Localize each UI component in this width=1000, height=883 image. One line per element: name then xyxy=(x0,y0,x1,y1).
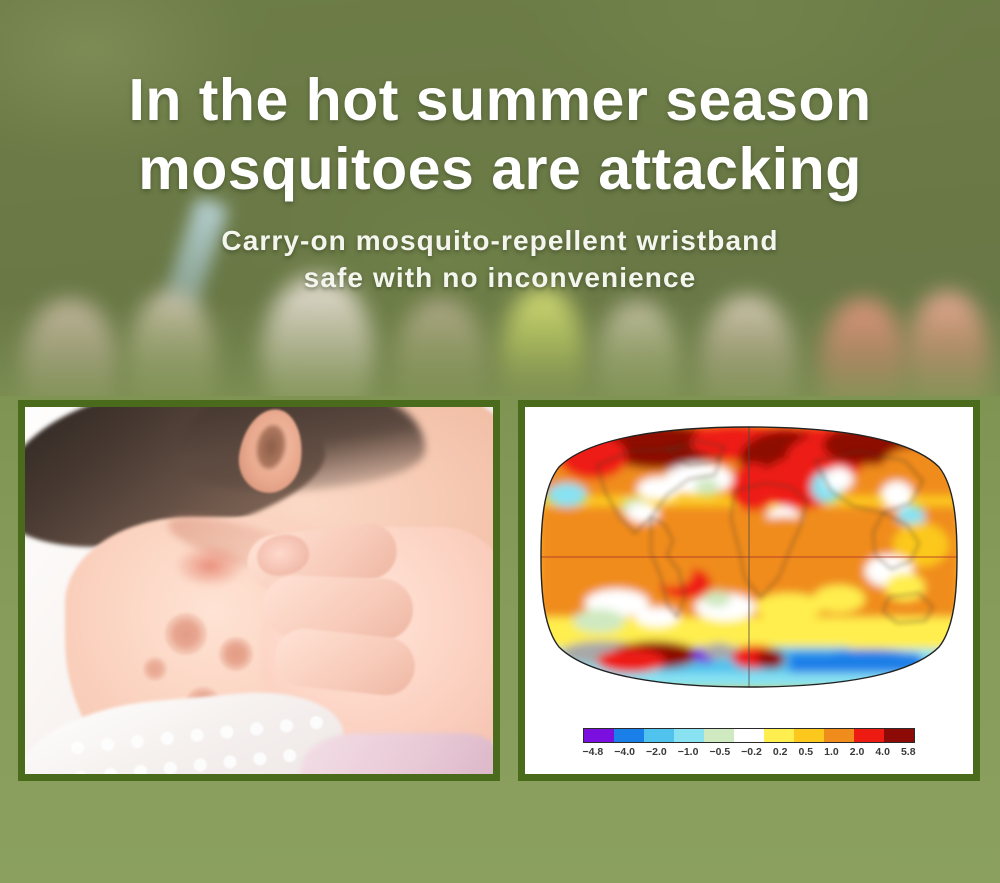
colorbar-tick-11: 5.8 xyxy=(895,746,921,758)
colorbar-tick-1: −4.0 xyxy=(609,746,641,758)
colorbar-tick-0: −4.8 xyxy=(577,746,609,758)
colorbar-bin-6 xyxy=(764,729,794,742)
page-title: In the hot summer season mosquitoes are … xyxy=(0,66,1000,204)
mosquito-bite-welt xyxy=(143,657,167,681)
colorbar-bin-3 xyxy=(674,729,704,742)
world-anomaly-heatmap xyxy=(539,421,959,693)
colorbar-tick-8: 1.0 xyxy=(819,746,845,758)
colorbar-bin-1 xyxy=(614,729,644,742)
page-subtitle: Carry-on mosquito-repellent wristband sa… xyxy=(0,222,1000,296)
mosquito-bite-welt xyxy=(219,637,253,671)
colorbar-bin-0 xyxy=(584,729,614,742)
colorbar-tick-labels: −4.8−4.0−2.0−1.0−0.5−0.20.20.51.02.04.05… xyxy=(577,746,921,758)
baby-clothing-pink xyxy=(301,733,493,774)
colorbar-tick-4: −0.5 xyxy=(704,746,736,758)
colorbar-legend: −4.8−4.0−2.0−1.0−0.5−0.20.20.51.02.04.05… xyxy=(525,728,973,758)
promo-banner: In the hot summer season mosquitoes are … xyxy=(0,0,1000,883)
global-temperature-map-panel: −4.8−4.0−2.0−1.0−0.5−0.20.20.51.02.04.05… xyxy=(518,400,980,781)
colorbar-bin-9 xyxy=(854,729,884,742)
colorbar-tick-10: 4.0 xyxy=(870,746,896,758)
headline-line-1: In the hot summer season xyxy=(128,67,871,133)
colorbar-tick-7: 0.5 xyxy=(793,746,819,758)
colorbar-bin-5 xyxy=(734,729,764,742)
colorbar-tick-5: −0.2 xyxy=(736,746,768,758)
colorbar-tick-9: 2.0 xyxy=(844,746,870,758)
colorbar-bin-10 xyxy=(884,729,914,742)
colorbar-bin-4 xyxy=(704,729,734,742)
colorbar-tick-6: 0.2 xyxy=(767,746,793,758)
baby-mosquito-bites-panel xyxy=(18,400,500,781)
colorbar-tick-3: −1.0 xyxy=(672,746,704,758)
mosquito-bite-welt xyxy=(165,613,207,655)
headline-line-2: mosquitoes are attacking xyxy=(0,135,1000,204)
baby-photo xyxy=(25,407,493,774)
subhead-line-1: Carry-on mosquito-repellent wristband xyxy=(221,225,778,256)
colorbar-bin-7 xyxy=(794,729,824,742)
colorbar-tick-2: −2.0 xyxy=(640,746,672,758)
temperature-anomaly-chart: −4.8−4.0−2.0−1.0−0.5−0.20.20.51.02.04.05… xyxy=(525,407,973,774)
colorbar-swatches xyxy=(583,728,915,743)
colorbar-bin-2 xyxy=(644,729,674,742)
colorbar-bin-8 xyxy=(824,729,854,742)
irritated-skin-patch xyxy=(175,545,245,587)
background-photo-outdoor-grass xyxy=(0,0,1000,420)
subhead-line-2: safe with no inconvenience xyxy=(0,259,1000,296)
